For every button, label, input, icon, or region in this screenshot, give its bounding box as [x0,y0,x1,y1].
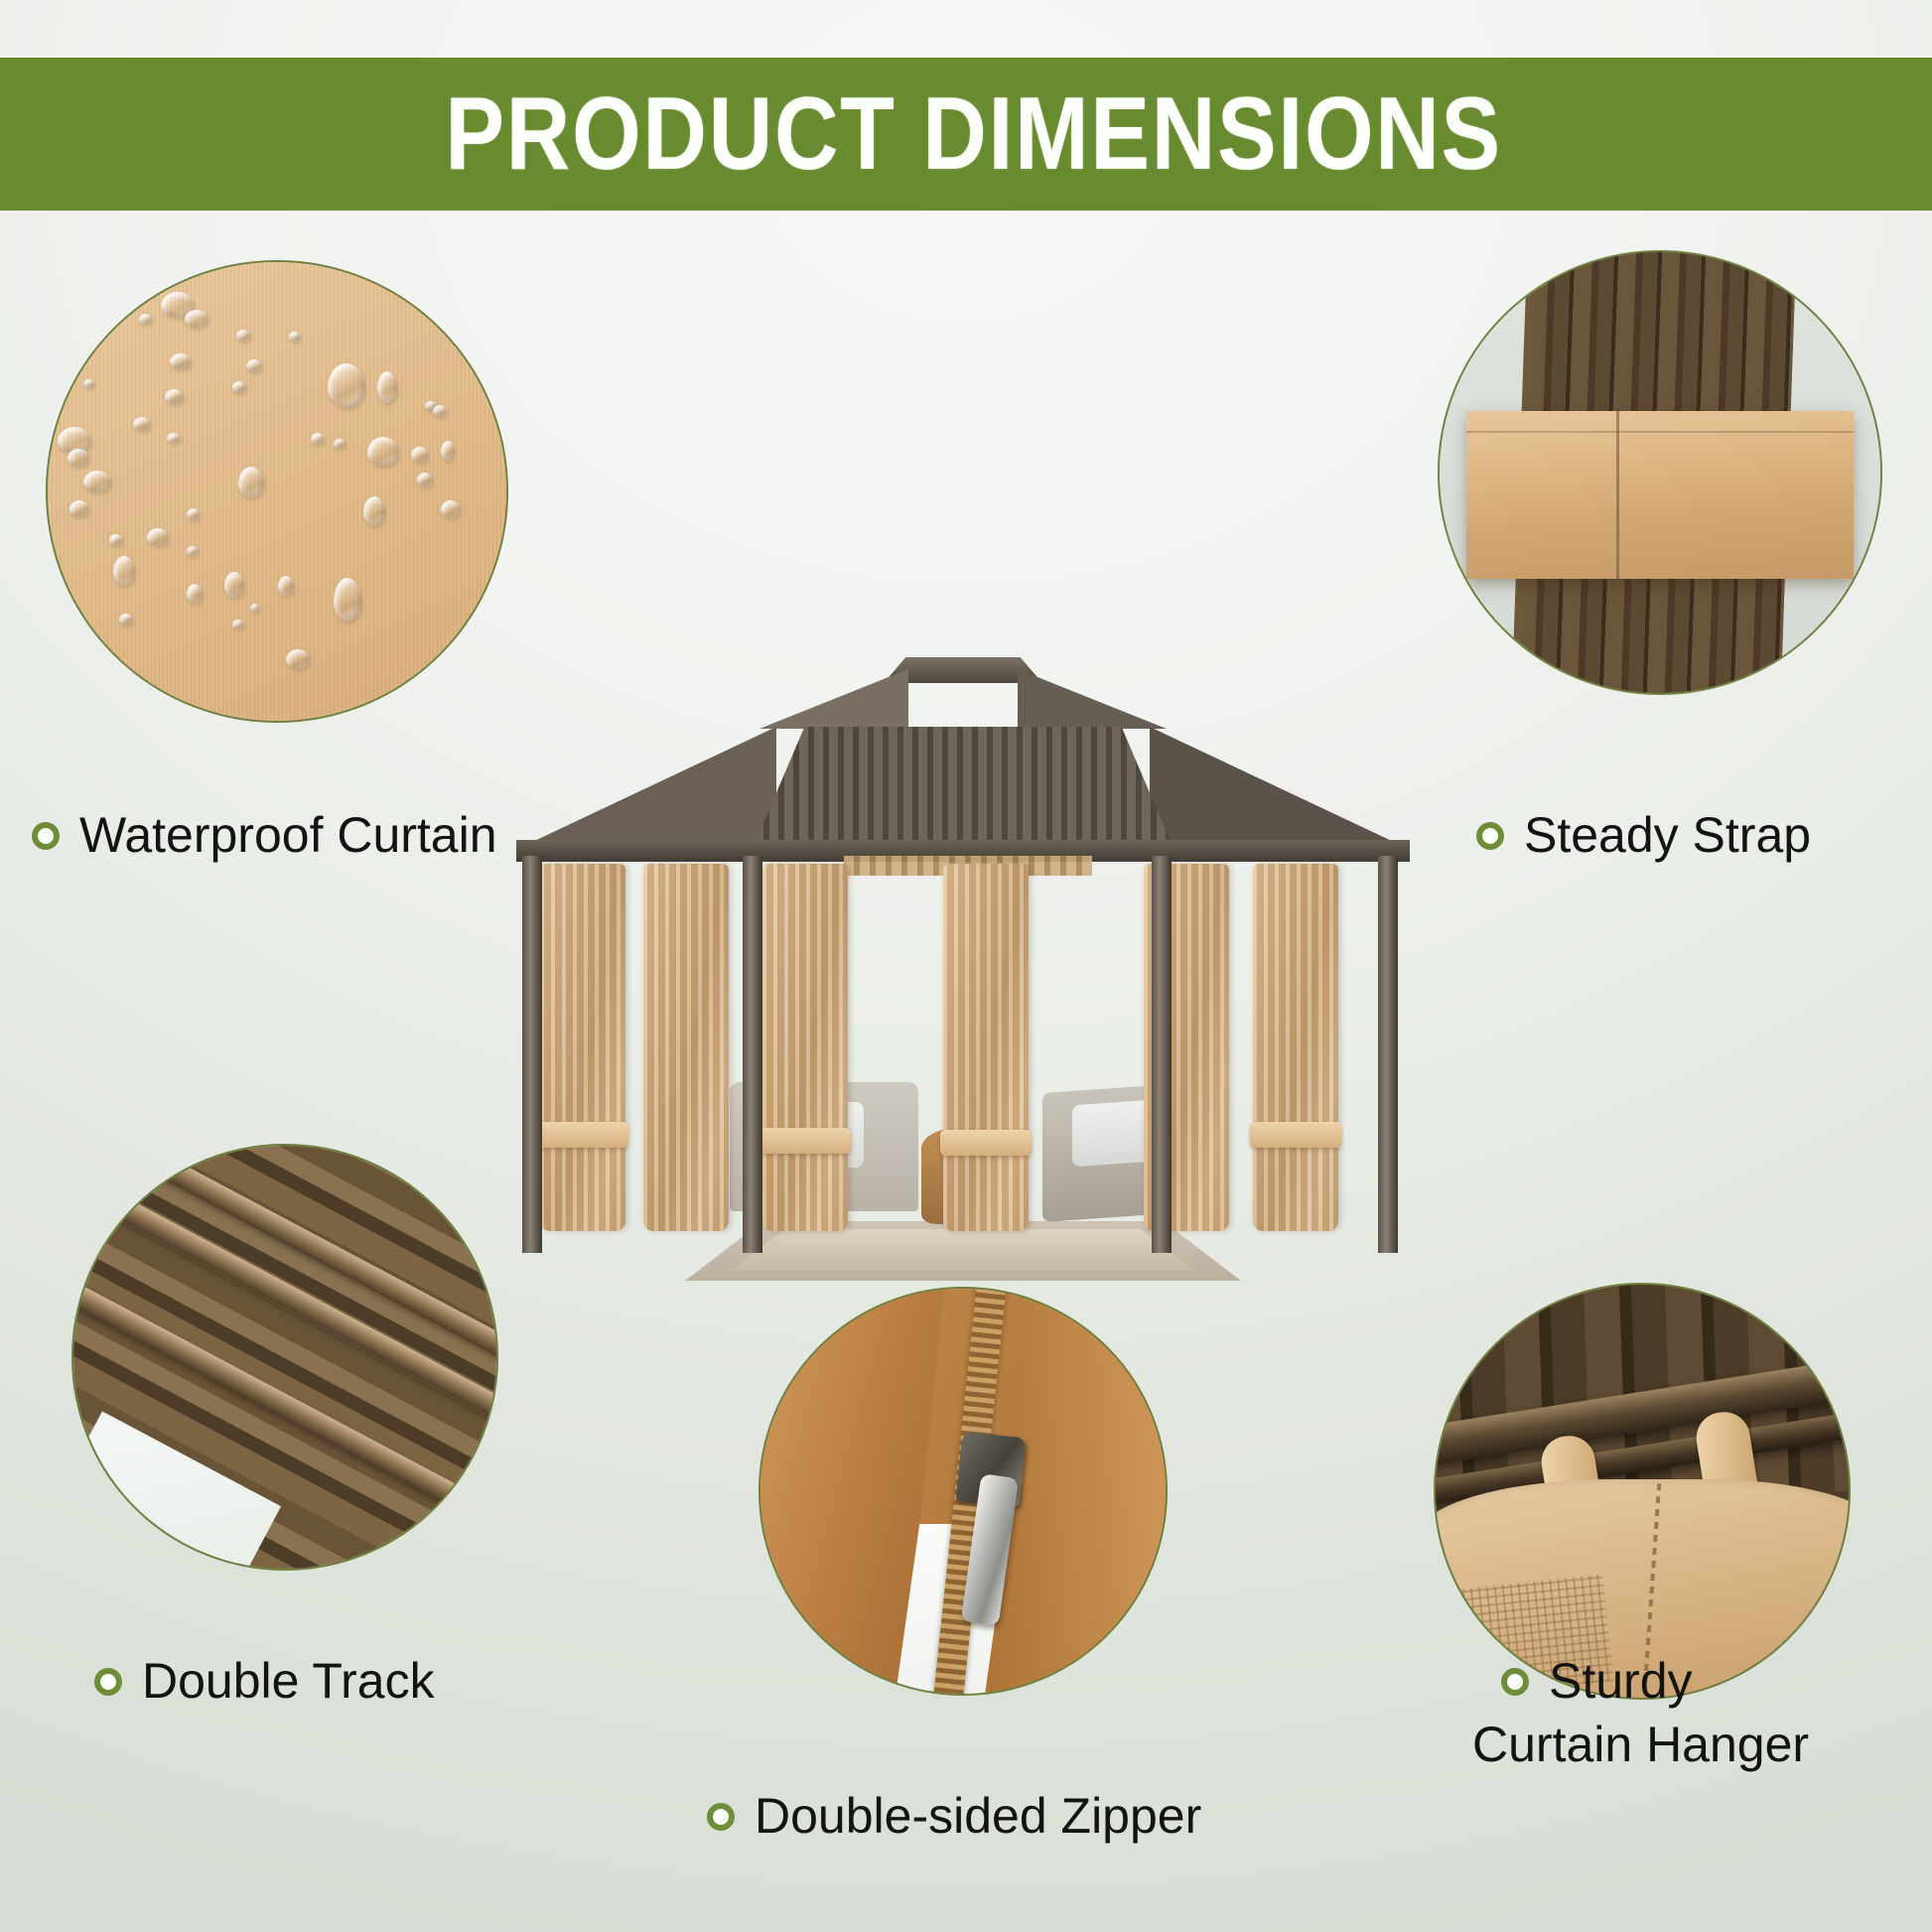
bullet-icon [94,1668,122,1696]
water-droplet [147,528,169,546]
gazebo-post [522,856,542,1253]
infographic-page: PRODUCT DIMENSIONS [0,0,1932,1932]
water-droplet [109,534,123,546]
water-droplet [311,433,325,445]
water-droplet [441,500,461,518]
water-droplet [119,614,133,625]
water-droplet [232,381,246,393]
strap-wrap [1466,411,1855,579]
water-droplet [363,496,385,526]
water-droplet [69,500,89,517]
water-droplet [187,546,199,556]
water-droplet [139,314,153,325]
gazebo-curtain [943,864,1029,1231]
feature-label-text: Waterproof Curtain [79,806,497,865]
curtain-tieback [1250,1122,1341,1148]
feature-label-waterproof-curtain: Waterproof Curtain [32,806,497,865]
water-droplet [441,441,455,461]
water-droplet [367,437,399,467]
water-droplet [167,433,181,444]
bullet-icon [1501,1668,1529,1696]
bullet-icon [707,1803,735,1831]
water-droplet [289,332,301,342]
feature-label-text-line1: Sturdy [1549,1652,1693,1711]
water-droplet [334,578,361,621]
gazebo-post [1152,856,1172,1253]
water-droplet [411,447,429,463]
curtain-tieback [759,1128,851,1154]
feature-label-sturdy-curtain-hanger: Sturdy [1501,1652,1898,1711]
water-droplet [185,310,208,328]
water-droplet [187,584,203,604]
roof-right-panel [1150,727,1398,844]
water-droplet [278,576,294,596]
gazebo-curtain [540,864,625,1231]
gazebo-post [743,856,762,1253]
water-droplet [133,417,151,431]
feature-label-text: Double Track [142,1652,435,1711]
product-image-gazebo [516,586,1410,1301]
water-droplet [238,467,264,498]
feature-label-sturdy-curtain-hanger-line2: Curtain Hanger [1472,1716,1809,1774]
feature-label-double-sided-zipper: Double-sided Zipper [707,1787,1201,1846]
feature-image-double-track [71,1144,498,1571]
feature-label-text-line2: Curtain Hanger [1472,1716,1809,1774]
gazebo-rug [730,1229,1196,1271]
feature-label-steady-strap: Steady Strap [1476,806,1811,865]
feature-label-text: Steady Strap [1524,806,1811,865]
roof-upper-right [1018,669,1167,729]
water-droplet [165,389,184,404]
gazebo-curtain [1253,864,1338,1231]
water-droplet [68,449,89,467]
header-banner: PRODUCT DIMENSIONS [0,58,1932,210]
strap-fold [1616,411,1619,614]
water-droplet [113,556,135,586]
water-droplet [224,572,244,598]
fabric-texture [48,262,506,721]
water-droplet [187,508,201,520]
feature-image-sturdy-curtain-hanger [1434,1283,1851,1700]
feature-label-double-track: Double Track [94,1652,435,1711]
water-droplet [328,363,365,408]
bullet-icon [1476,822,1504,850]
water-droplet [433,405,447,417]
gazebo-post [1378,856,1398,1253]
water-droplet [417,473,433,486]
water-droplet [236,330,250,342]
feature-image-double-sided-zipper [759,1287,1168,1696]
page-title: PRODUCT DIMENSIONS [430,75,1502,194]
roof-front-panel [755,727,1172,844]
curtain-tieback [537,1122,628,1148]
water-droplet [334,439,345,449]
water-droplet [250,604,260,613]
feature-label-text: Double-sided Zipper [755,1787,1201,1846]
roof-left-panel [528,727,776,844]
roof-upper-left [759,669,908,729]
water-droplet [83,471,111,492]
feature-image-steady-strap [1438,250,1882,695]
water-droplet [246,359,262,372]
water-droplet [170,353,192,369]
curtain-tieback [940,1130,1032,1156]
bullet-icon [32,822,60,850]
gazebo-curtain [762,864,848,1231]
water-droplet [83,379,95,388]
water-droplet [377,371,397,403]
water-droplet [232,620,244,629]
feature-image-waterproof-curtain [46,260,508,723]
water-droplet [286,649,310,669]
gazebo-curtain [643,864,729,1231]
